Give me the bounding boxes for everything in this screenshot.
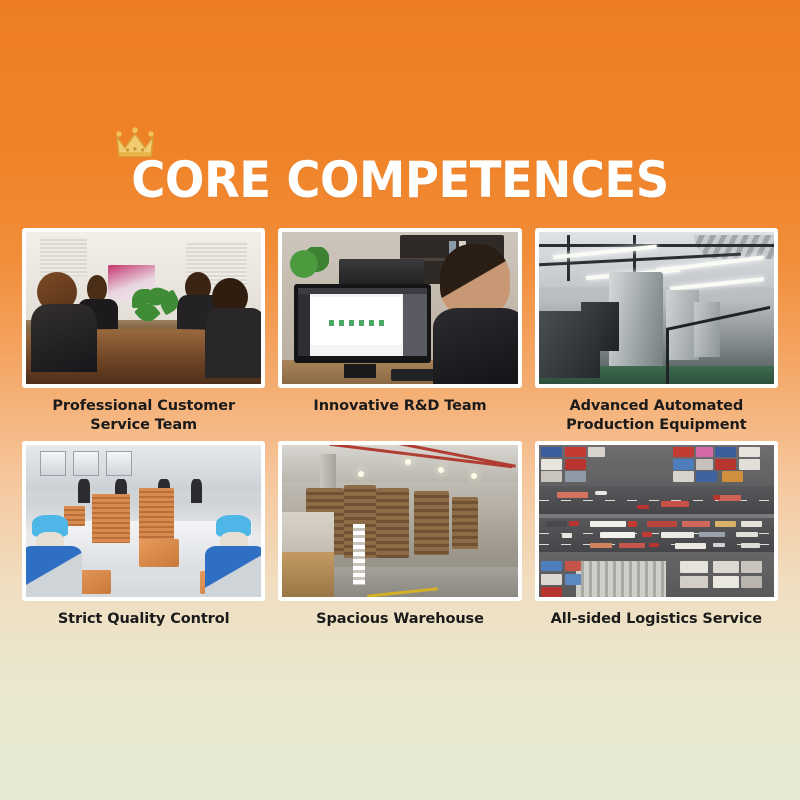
photo-professional-customer-service-team xyxy=(26,232,261,384)
caption-professional-customer-service-team: Professional Customer Service Team xyxy=(22,397,265,435)
photo-strict-quality-control xyxy=(26,445,261,597)
card-professional-customer-service-team[interactable]: Professional Customer Service Team xyxy=(22,228,265,435)
card-strict-quality-control[interactable]: Strict Quality Control xyxy=(22,441,265,629)
caption-line: Professional Customer xyxy=(22,397,265,416)
photo-frame xyxy=(278,441,521,601)
caption-innovative-rd-team: Innovative R&D Team xyxy=(278,397,521,416)
caption-line: Production Equipment xyxy=(535,416,778,435)
card-advanced-automated-production-equipment[interactable]: Advanced Automated Production Equipment xyxy=(535,228,778,435)
photo-frame xyxy=(535,441,778,601)
competence-grid: Professional Customer Service Team xyxy=(22,228,778,629)
photo-frame xyxy=(278,228,521,388)
caption-advanced-automated-production-equipment: Advanced Automated Production Equipment xyxy=(535,397,778,435)
caption-line: All-sided Logistics Service xyxy=(535,610,778,629)
card-spacious-warehouse[interactable]: Spacious Warehouse xyxy=(278,441,521,629)
caption-line: Strict Quality Control xyxy=(22,610,265,629)
photo-spacious-warehouse xyxy=(282,445,517,597)
card-all-sided-logistics-service[interactable]: All-sided Logistics Service xyxy=(535,441,778,629)
card-innovative-rd-team[interactable]: Innovative R&D Team xyxy=(278,228,521,435)
photo-all-sided-logistics-service xyxy=(539,445,774,597)
page-title: CORE COMPETENCES xyxy=(131,155,669,205)
photo-innovative-rd-team xyxy=(282,232,517,384)
caption-line: Service Team xyxy=(22,416,265,435)
title-wrap: CORE COMPETENCES xyxy=(111,155,689,205)
caption-line: Innovative R&D Team xyxy=(278,397,521,416)
photo-frame xyxy=(535,228,778,388)
caption-spacious-warehouse: Spacious Warehouse xyxy=(278,610,521,629)
caption-all-sided-logistics-service: All-sided Logistics Service xyxy=(535,610,778,629)
photo-advanced-automated-production-equipment xyxy=(539,232,774,384)
core-competences-banner: CORE COMPETENCES xyxy=(0,0,800,800)
caption-line: Advanced Automated xyxy=(535,397,778,416)
photo-frame xyxy=(22,441,265,601)
caption-strict-quality-control: Strict Quality Control xyxy=(22,610,265,629)
photo-frame xyxy=(22,228,265,388)
header: CORE COMPETENCES xyxy=(0,155,800,205)
caption-line: Spacious Warehouse xyxy=(278,610,521,629)
